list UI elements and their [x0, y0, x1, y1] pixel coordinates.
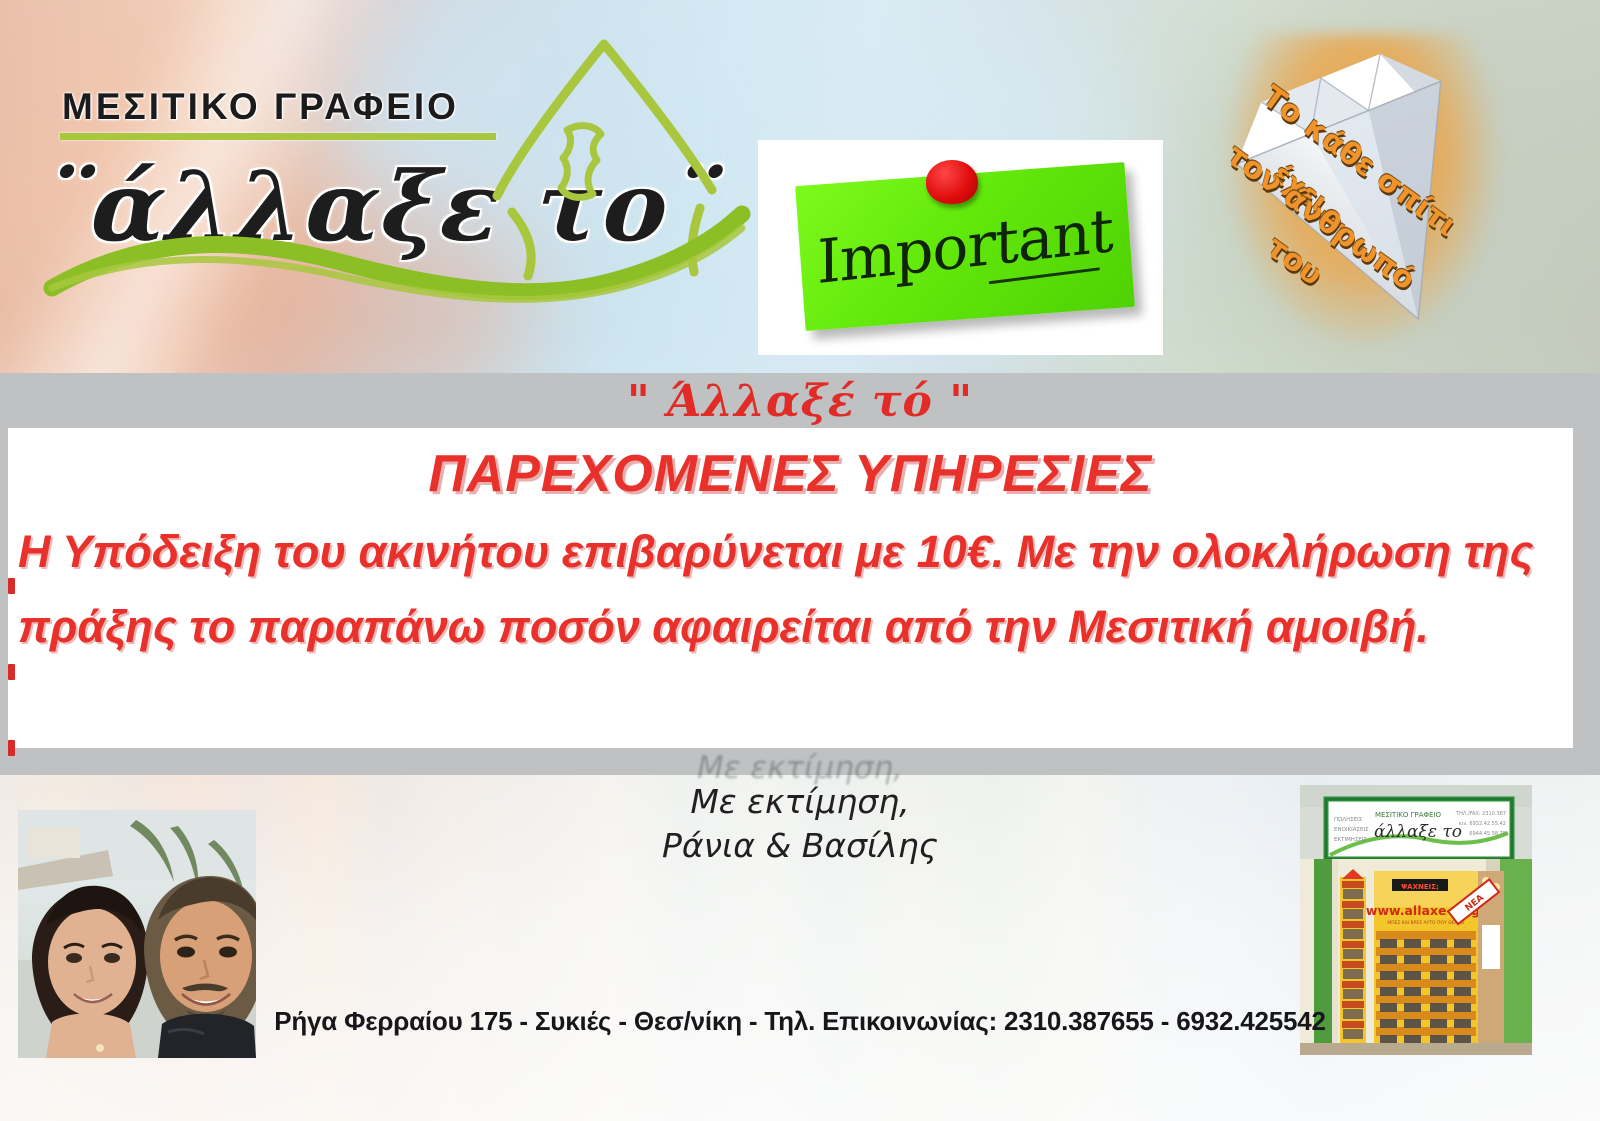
diamond-badge: Το κάθε σπίτι έχει... τον άνθρωπό του: [1212, 30, 1512, 360]
svg-text:ΜΠΕΣ ΚΑΙ ΒΡΕΣ ΑΥΤΟ ΠΟΥ ΘΕΛΕΙΣ: ΜΠΕΣ ΚΑΙ ΒΡΕΣ ΑΥΤΟ ΠΟΥ ΘΕΛΕΙΣ: [1387, 920, 1464, 926]
contact-line: Ρήγα Φερραίου 175 - Συκιές - Θεσ/νίκη - …: [0, 1006, 1600, 1037]
svg-text:ΨΑΧΝΕΙΣ;: ΨΑΧΝΕΙΣ;: [1401, 883, 1439, 891]
house-swoosh-icon: [0, 0, 760, 370]
svg-text:6944.45.38.78: 6944.45.38.78: [1469, 831, 1506, 837]
services-heading: ΠΑΡΕΧΟΜΕΝΕΣ ΥΠΗΡΕΣΙΕΣ: [8, 444, 1573, 504]
svg-text:ΕΚΤΙΜΗΣΕΙΣ: ΕΚΤΙΜΗΣΕΙΣ: [1334, 837, 1368, 843]
svg-text:ΤΗΛ./FAX: 2310.387: ΤΗΛ./FAX: 2310.387: [1455, 811, 1506, 817]
banner-quoted-title: " Άλλαξέ τό ": [0, 376, 1600, 427]
diamond-icon: [1212, 30, 1512, 360]
poster-root: ΜΕΣΙΤΙΚΟ ΓΡΑΦΕΙΟ ¨άλλαξε το¨ Important: [0, 0, 1600, 1121]
pushpin-icon: [926, 160, 978, 204]
important-note-card: Important: [758, 140, 1163, 355]
edge-clip-mark: [8, 664, 15, 680]
svg-text:άλλαξε το: άλλαξε το: [1374, 822, 1462, 842]
services-body-text: Η Υπόδειξη του ακινήτου επιβαρύνεται με …: [18, 514, 1558, 664]
edge-clip-mark: [8, 578, 15, 594]
services-panel: ΠΑΡΕΧΟΜΕΝΕΣ ΥΠΗΡΕΣΙΕΣ Η Υπόδειξη του ακι…: [8, 428, 1573, 748]
svg-text:ΜΕΣΙΤΙΚΟ ΓΡΑΦΕΙΟ: ΜΕΣΙΤΙΚΟ ΓΡΑΦΕΙΟ: [1375, 811, 1442, 819]
svg-text:κιν. 6932.42.55.42: κιν. 6932.42.55.42: [1459, 821, 1506, 827]
svg-text:ΕΝΟΙΚΙΑΣΕΙΣ: ΕΝΟΙΚΙΑΣΕΙΣ: [1334, 827, 1369, 833]
brand-logo: ΜΕΣΙΤΙΚΟ ΓΡΑΦΕΙΟ ¨άλλαξε το¨: [0, 0, 760, 370]
svg-text:ΠΩΛΗΣΕΙΣ: ΠΩΛΗΣΕΙΣ: [1334, 817, 1363, 823]
